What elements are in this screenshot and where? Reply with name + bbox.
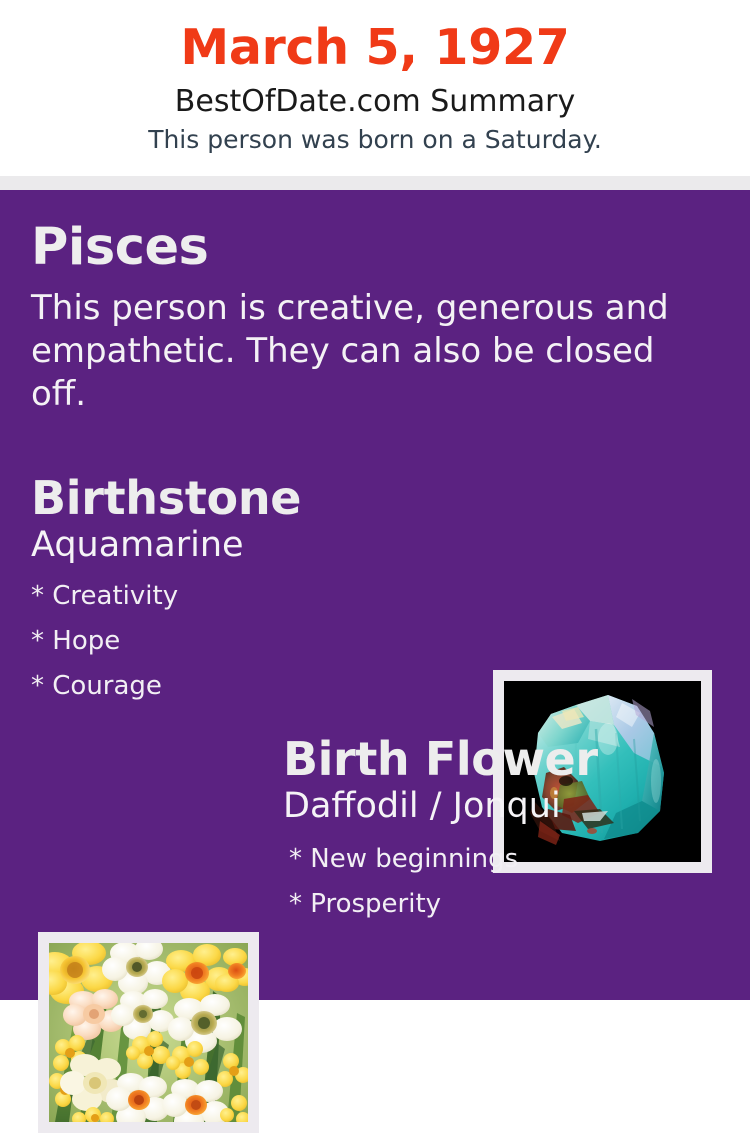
birth-flower-trait-list: * New beginnings * Prosperity (283, 837, 733, 926)
header: March 5, 1927 BestOfDate.com Summary Thi… (0, 0, 750, 176)
day-of-week-text: This person was born on a Saturday. (0, 124, 750, 155)
birthstone-trait-list: * Creativity * Hope * Courage (31, 574, 471, 708)
content-panel: Pisces This person is creative, generous… (0, 190, 750, 1000)
list-item: * Courage (31, 664, 471, 709)
birthstone-name: Aquamarine (31, 526, 471, 565)
header-divider (0, 176, 750, 190)
birth-flower-image-frame (38, 932, 259, 1133)
birth-flower-image (49, 943, 248, 1122)
zodiac-sign-name: Pisces (31, 222, 711, 273)
list-item: * Creativity (31, 574, 471, 619)
page-title-date: March 5, 1927 (0, 22, 750, 75)
list-item: * Hope (31, 619, 471, 664)
daffodil-field-icon (49, 943, 248, 1122)
site-summary-label: BestOfDate.com Summary (0, 83, 750, 121)
birthstone-section: Birthstone Aquamarine * Creativity * Hop… (31, 474, 471, 709)
birth-flower-name: Daffodil / Jonqui (283, 787, 733, 826)
zodiac-section: Pisces This person is creative, generous… (31, 222, 711, 415)
birth-flower-heading: Birth Flower (283, 735, 733, 783)
birth-flower-section: Birth Flower Daffodil / Jonqui * New beg… (283, 735, 733, 927)
zodiac-description: This person is creative, generous and em… (31, 287, 703, 415)
summary-card: March 5, 1927 BestOfDate.com Summary Thi… (0, 0, 750, 1000)
birthstone-heading: Birthstone (31, 474, 471, 522)
list-item: * New beginnings (283, 837, 733, 882)
list-item: * Prosperity (283, 882, 733, 927)
